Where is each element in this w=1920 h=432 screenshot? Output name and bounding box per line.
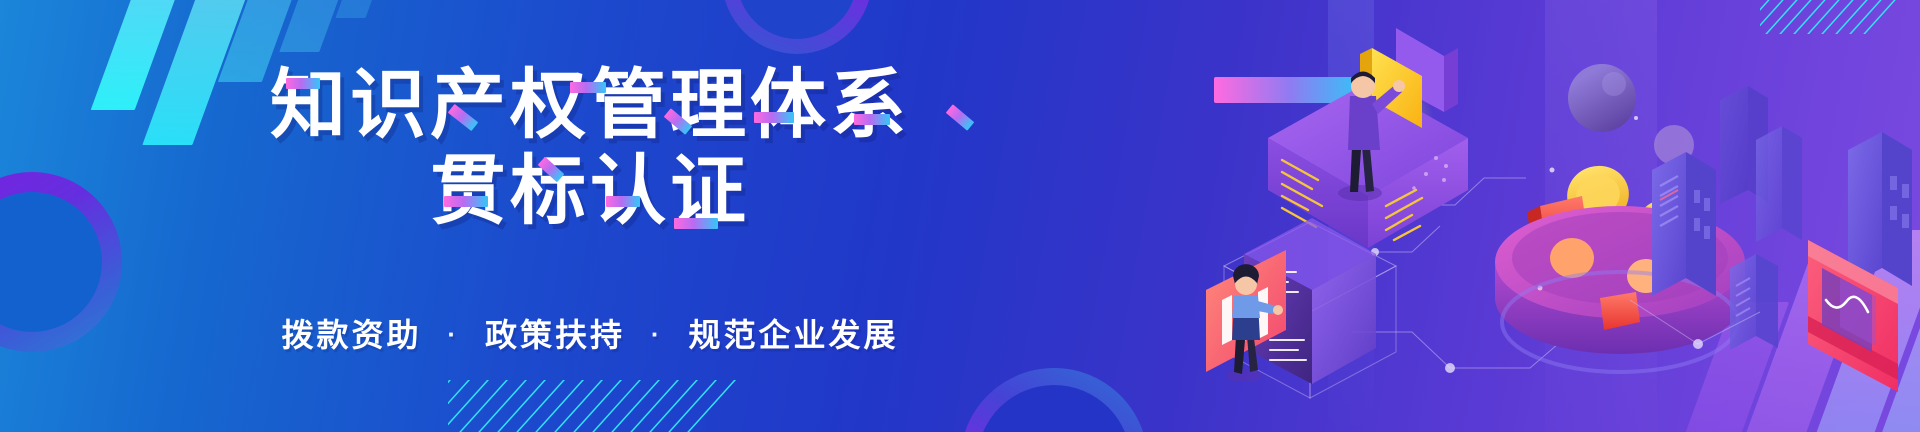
subtitle-item-1: 拨款资助 [282,317,422,353]
banner-subtitle: 拨款资助 · 政策扶持 · 规范企业发展 [0,314,1180,355]
title-accent-chip [946,104,975,130]
title-line-2: 贯标认证 [430,150,750,234]
subtitle-item-3: 规范企业发展 [688,317,898,353]
title-accent-chip [570,82,606,93]
subtitle-item-2: 政策扶持 [485,317,625,353]
title-accent-chip [286,78,320,89]
promo-banner: 知识产权管理体系 贯标认证 拨款资助 · 政策扶持 · [0,0,1920,432]
subtitle-separator: · [433,319,473,349]
title-accent-chip [854,114,890,125]
title-accent-chip [674,218,718,229]
title-accent-chip [444,196,488,207]
title-accent-chip [754,112,794,123]
subtitle-separator: · [637,319,677,349]
isometric-illustration [1200,0,1920,432]
title-line-1-text: 知识产权管理体系 [270,63,910,148]
banner-title: 知识产权管理体系 贯标认证 [0,64,1180,234]
banner-copy: 知识产权管理体系 贯标认证 拨款资助 · 政策扶持 · [0,0,1180,432]
title-line-1: 知识产权管理体系 [270,64,910,148]
title-accent-chip [606,196,640,207]
